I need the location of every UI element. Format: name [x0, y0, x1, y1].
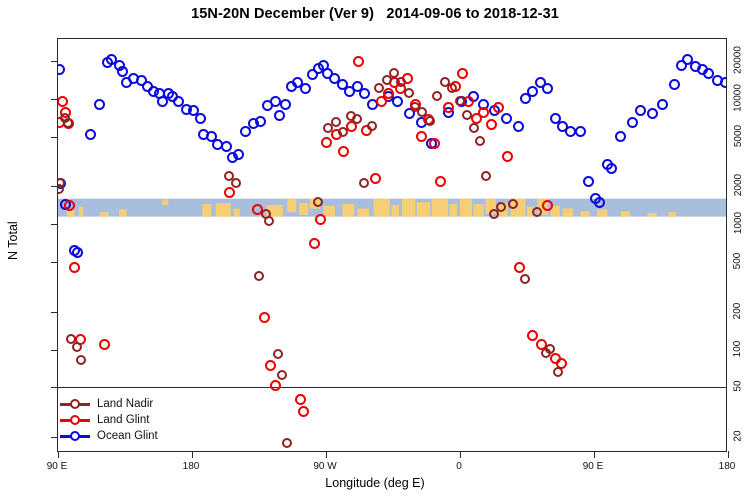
legend-item-land_nadir[interactable]: Land Nadir — [60, 396, 158, 412]
data-point — [72, 342, 82, 352]
data-point — [475, 136, 485, 146]
x-tick-label: 0 — [456, 461, 462, 472]
y-tick-label: 10000 — [733, 98, 744, 126]
y-tick — [51, 312, 58, 313]
data-point — [532, 207, 542, 217]
y-tick-label: 100 — [733, 349, 744, 366]
legend-label: Ocean Glint — [97, 430, 158, 442]
x-tick-label: 180 — [719, 461, 736, 472]
x-tick-label: 180 — [183, 461, 200, 472]
y-tick — [51, 262, 58, 263]
data-point — [273, 349, 283, 359]
x-tick-label: 90 W — [313, 461, 336, 472]
data-point — [502, 151, 513, 162]
legend-marker-icon — [60, 429, 90, 443]
page-title: 15N-20N December (Ver 9) 2014-09-06 to 2… — [0, 6, 750, 22]
x-tick — [728, 451, 729, 458]
data-point — [99, 339, 110, 350]
y-tick-label: 200 — [733, 311, 744, 328]
data-point — [392, 96, 403, 107]
legend-marker-icon — [60, 397, 90, 411]
plot-area — [57, 38, 727, 452]
data-point — [404, 88, 414, 98]
chart-canvas: 15N-20N December (Ver 9) 2014-09-06 to 2… — [0, 0, 750, 500]
data-point — [443, 102, 454, 113]
y-tick-label: 20 — [733, 436, 744, 447]
data-point — [416, 131, 427, 142]
data-point — [309, 238, 320, 249]
y-tick — [51, 437, 58, 438]
y-tick — [51, 350, 58, 351]
data-point — [370, 173, 381, 184]
data-point — [117, 66, 128, 77]
y-tick-label: 5000 — [733, 136, 744, 158]
data-point — [425, 116, 435, 126]
data-point — [300, 83, 311, 94]
data-point — [321, 137, 332, 148]
data-point — [462, 110, 472, 120]
legend-label: Land Glint — [97, 414, 149, 426]
y-tick — [51, 99, 58, 100]
x-tick — [326, 451, 327, 458]
legend-item-land_glint[interactable]: Land Glint — [60, 412, 158, 428]
y-tick-label: 50 — [733, 386, 744, 397]
data-point — [264, 216, 274, 226]
data-point — [553, 367, 563, 377]
data-point — [508, 199, 518, 209]
y-tick — [51, 186, 58, 187]
data-point — [513, 121, 524, 132]
plot-clip — [58, 39, 726, 451]
legend-marker-icon — [60, 413, 90, 427]
data-point — [647, 108, 658, 119]
y-tick-label: 1000 — [733, 223, 744, 245]
data-point — [255, 116, 266, 127]
data-point — [233, 149, 244, 160]
data-point — [501, 113, 512, 124]
x-tick-label: 90 E — [47, 461, 68, 472]
data-point — [313, 197, 323, 207]
data-point — [389, 68, 399, 78]
x-tick-label: 90 E — [583, 461, 604, 472]
legend-item-ocean_glint[interactable]: Ocean Glint — [60, 428, 158, 444]
y-tick-label: 20000 — [733, 60, 744, 88]
data-point — [575, 126, 586, 137]
y-tick — [51, 61, 58, 62]
x-axis-title: Longitude (deg E) — [0, 476, 750, 490]
y-tick-label: 500 — [733, 261, 744, 278]
data-point — [224, 187, 235, 198]
legend: Land NadirLand GlintOcean Glint — [60, 396, 158, 444]
legend-label: Land Nadir — [97, 398, 153, 410]
x-tick — [460, 451, 461, 458]
data-point — [63, 118, 73, 128]
data-point — [606, 163, 617, 174]
x-tick — [58, 451, 59, 458]
y-tick-label: 2000 — [733, 185, 744, 207]
data-point — [72, 247, 83, 258]
data-point — [315, 214, 326, 225]
data-point — [353, 56, 364, 67]
data-point — [565, 126, 576, 137]
y-tick — [51, 224, 58, 225]
data-point — [331, 117, 341, 127]
y-tick — [51, 387, 58, 388]
y-axis-title: N Total — [6, 221, 20, 260]
data-point — [270, 96, 281, 107]
data-point — [657, 99, 668, 110]
data-point — [367, 121, 377, 131]
data-point — [583, 176, 594, 187]
data-point — [432, 91, 442, 101]
data-point — [435, 176, 446, 187]
reference-line — [58, 387, 726, 388]
data-point — [282, 438, 292, 448]
data-point — [254, 271, 264, 281]
data-point — [455, 96, 465, 106]
y-tick — [51, 137, 58, 138]
data-point — [669, 79, 680, 90]
x-tick — [192, 451, 193, 458]
data-point — [221, 141, 232, 152]
data-point — [627, 117, 638, 128]
data-point — [270, 380, 281, 391]
x-tick — [594, 451, 595, 458]
